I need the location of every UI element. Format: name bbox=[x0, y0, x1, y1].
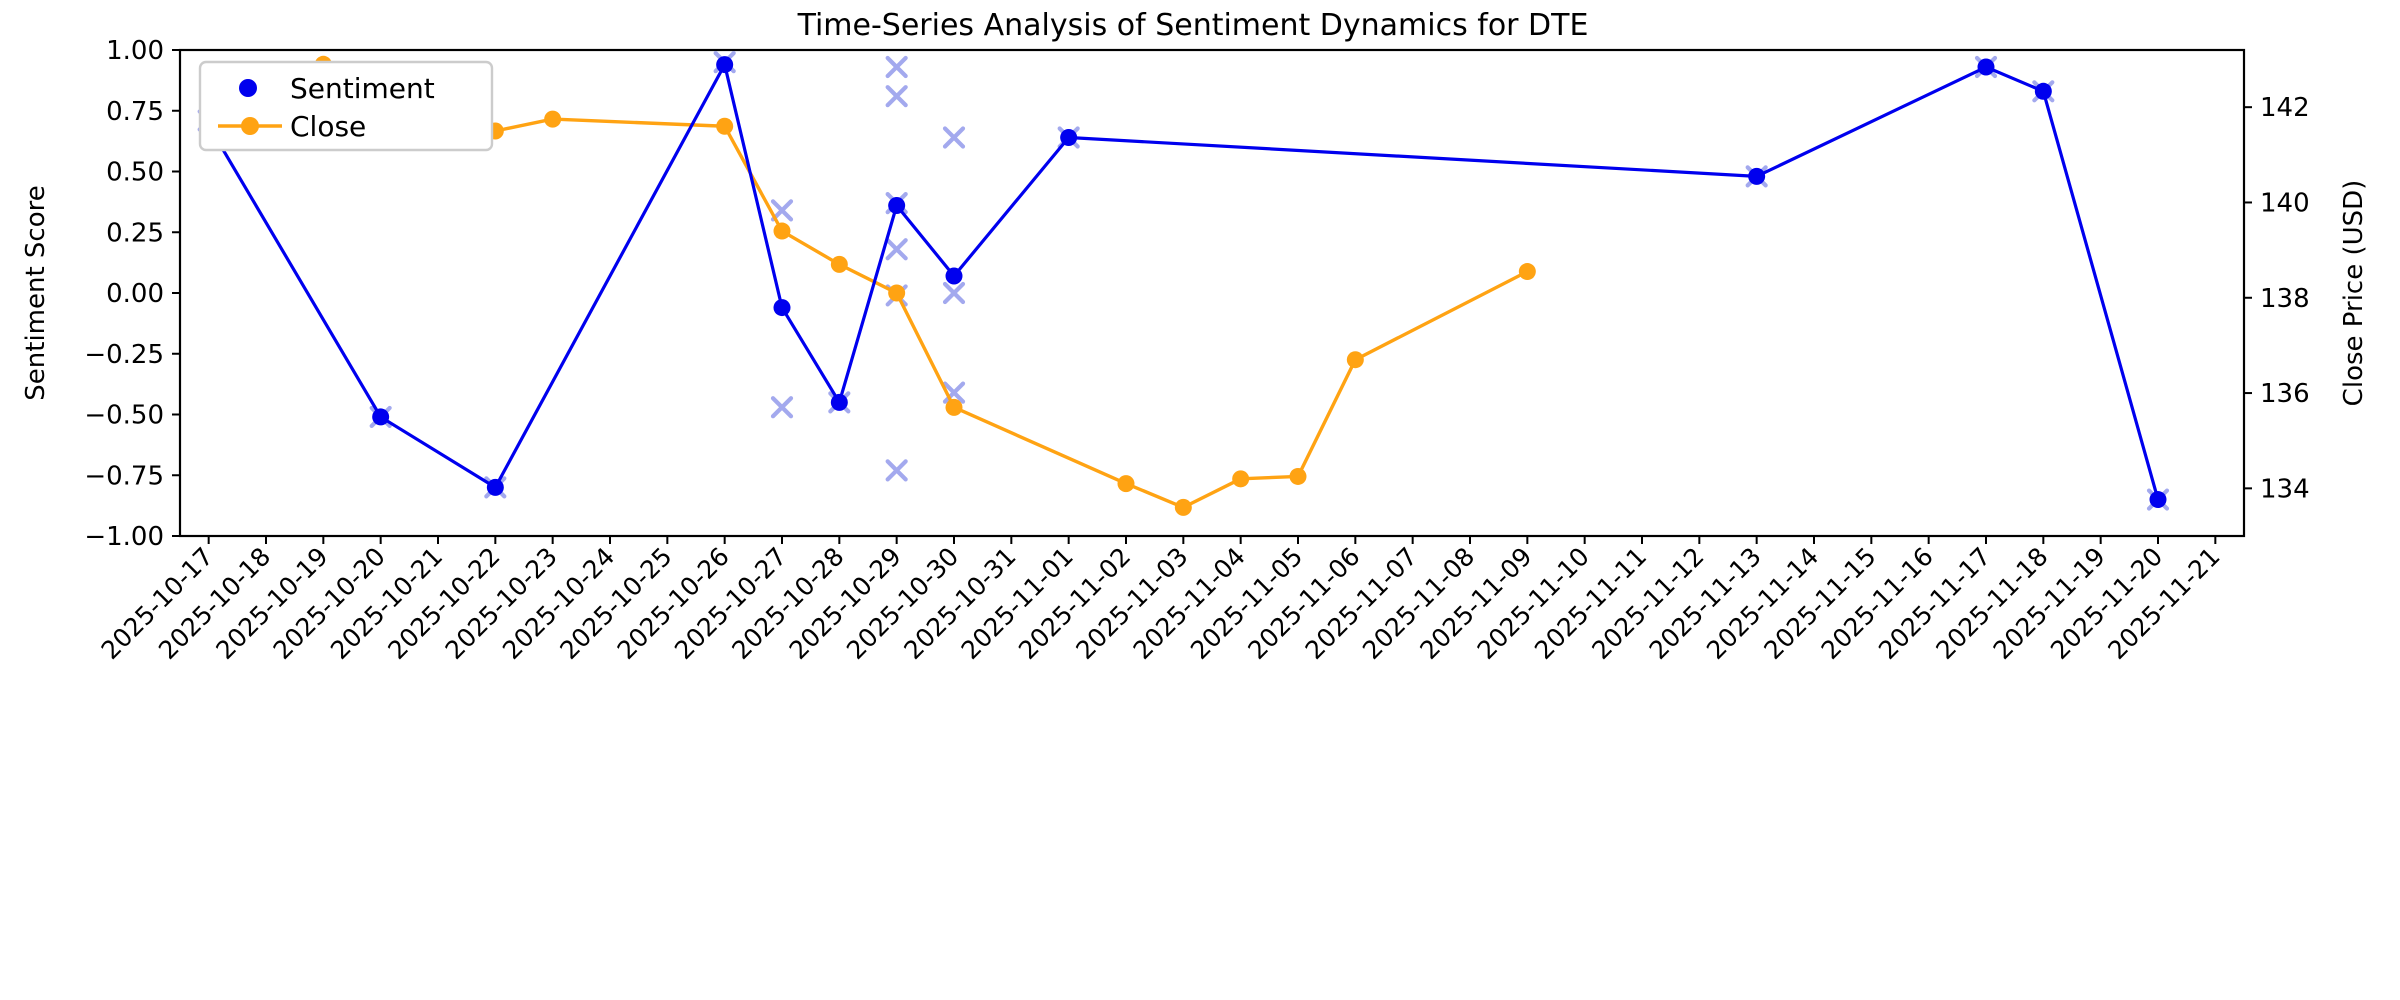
legend-marker-close bbox=[241, 117, 259, 135]
y-axis-left-title: Sentiment Score bbox=[21, 185, 51, 400]
data-point-sentiment bbox=[1978, 59, 1995, 76]
page-title: Time-Series Analysis of Sentiment Dynami… bbox=[797, 8, 1589, 43]
y-tick-label-left: −0.50 bbox=[84, 401, 164, 431]
data-point-close bbox=[1118, 475, 1135, 492]
data-point-sentiment bbox=[831, 394, 848, 411]
data-point-close bbox=[1290, 468, 1307, 485]
y-tick-label-left: 1.00 bbox=[106, 36, 164, 66]
y-tick-label-left: 0.00 bbox=[106, 279, 164, 309]
data-point-sentiment bbox=[1748, 168, 1765, 185]
data-point-close bbox=[716, 118, 733, 135]
time-series-chart: Time-Series Analysis of Sentiment Dynami… bbox=[0, 0, 2400, 1000]
chart-figure: Time-Series Analysis of Sentiment Dynami… bbox=[0, 0, 2400, 1000]
y-tick-label-right: 140 bbox=[2260, 188, 2310, 218]
y-axis-right-title: Close Price (USD) bbox=[2339, 180, 2369, 407]
data-point-close bbox=[888, 285, 905, 302]
data-point-sentiment bbox=[946, 267, 963, 284]
data-point-close bbox=[946, 399, 963, 416]
legend-label-sentiment: Sentiment bbox=[290, 72, 435, 105]
legend[interactable]: Sentiment Close bbox=[200, 62, 492, 150]
data-point-close bbox=[774, 223, 791, 240]
data-point-sentiment bbox=[716, 56, 733, 73]
y-tick-label-left: −0.25 bbox=[84, 340, 164, 370]
data-point-sentiment bbox=[2035, 83, 2052, 100]
data-point-close bbox=[544, 111, 561, 128]
data-point-sentiment bbox=[888, 197, 905, 214]
legend-label-close: Close bbox=[290, 110, 366, 143]
data-point-sentiment bbox=[2150, 491, 2167, 508]
data-point-close bbox=[1347, 351, 1364, 368]
data-point-close bbox=[1232, 470, 1249, 487]
y-tick-label-right: 136 bbox=[2260, 379, 2310, 409]
y-tick-label-left: −0.75 bbox=[84, 461, 164, 491]
data-point-sentiment bbox=[1060, 129, 1077, 146]
data-point-close bbox=[1175, 499, 1192, 516]
y-tick-label-left: 0.50 bbox=[106, 158, 164, 188]
y-tick-label-right: 138 bbox=[2260, 284, 2310, 314]
y-tick-label-left: −1.00 bbox=[84, 522, 164, 552]
y-tick-label-left: 0.75 bbox=[106, 97, 164, 127]
data-point-close bbox=[1519, 263, 1536, 280]
data-point-sentiment bbox=[774, 299, 791, 316]
legend-marker-sentiment bbox=[239, 79, 257, 97]
y-tick-label-right: 142 bbox=[2260, 93, 2310, 123]
y-tick-label-right: 134 bbox=[2260, 474, 2310, 504]
y-tick-label-left: 0.25 bbox=[106, 218, 164, 248]
data-point-sentiment bbox=[372, 408, 389, 425]
data-point-close bbox=[831, 256, 848, 273]
data-point-sentiment bbox=[487, 479, 504, 496]
